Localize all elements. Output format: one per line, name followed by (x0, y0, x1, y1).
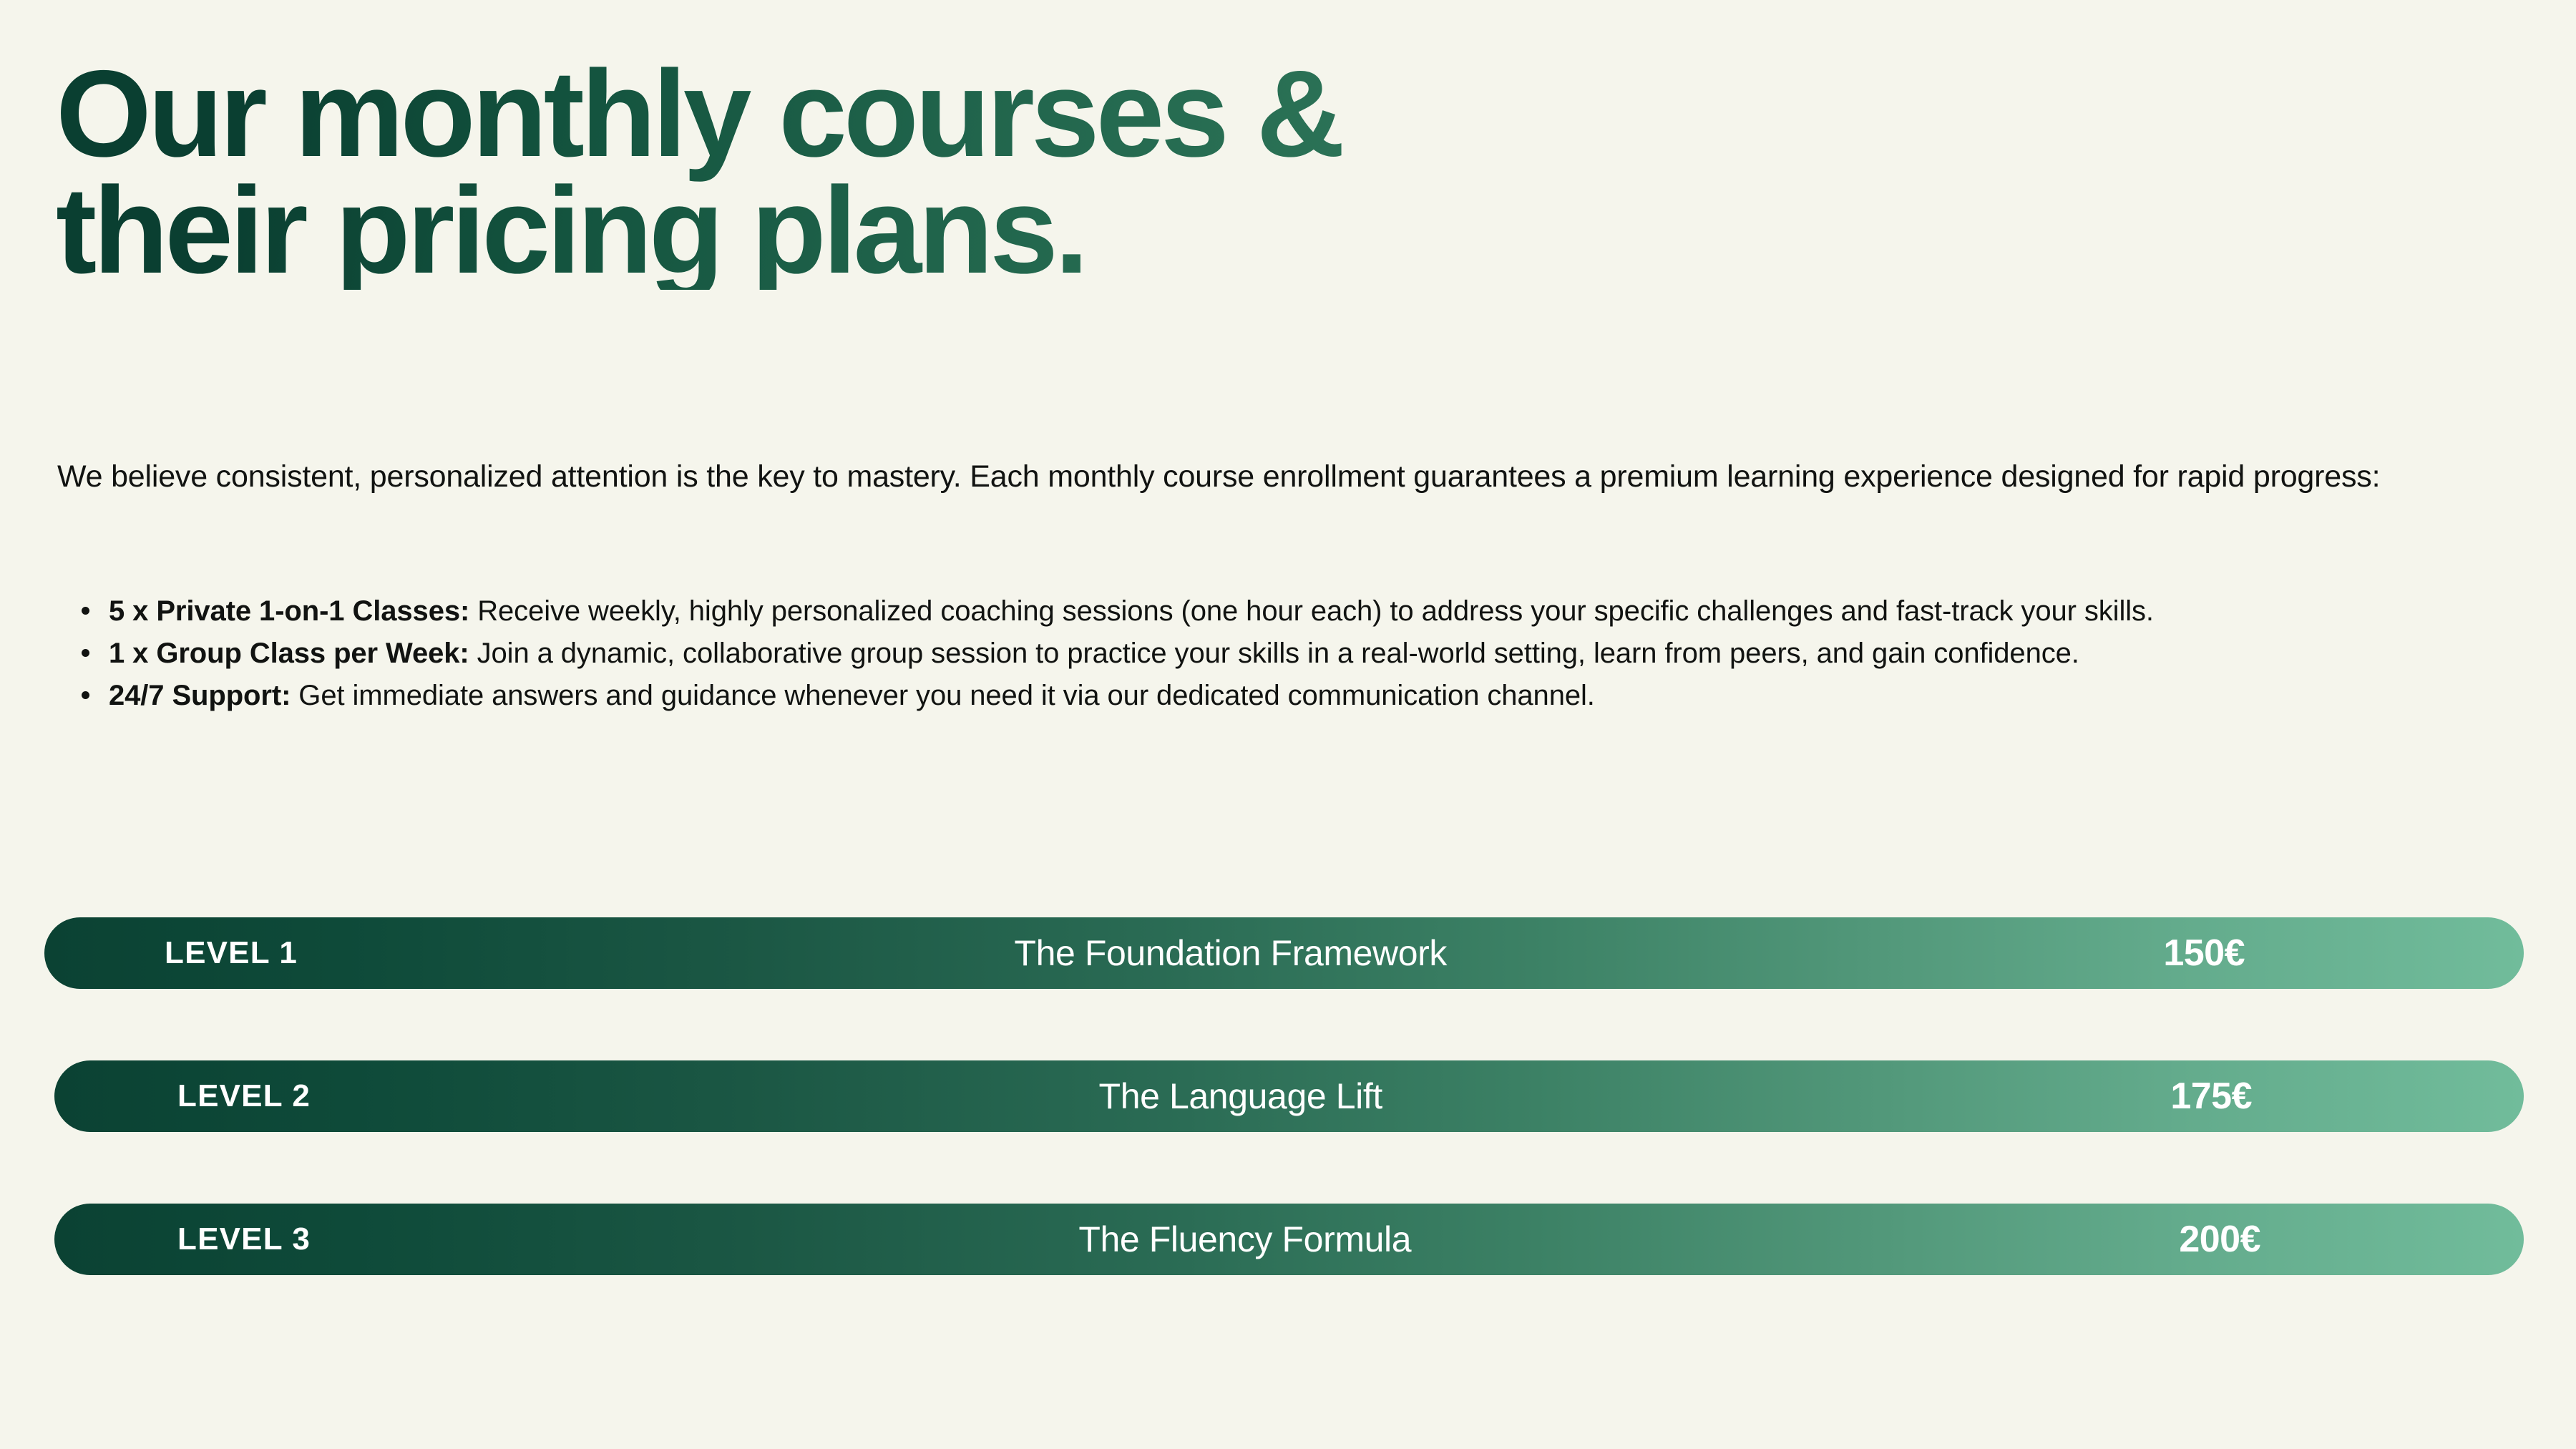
feature-text: Join a dynamic, collaborative group sess… (469, 638, 2079, 669)
list-item: 1 x Group Class per Week: Join a dynamic… (109, 635, 2542, 673)
pricing-page: Our monthly courses & their pricing plan… (0, 0, 2576, 1449)
list-item: 24/7 Support: Get immediate answers and … (109, 677, 2542, 715)
plan-title: The Fluency Formula (311, 1219, 2179, 1260)
plan-title: The Language Lift (311, 1075, 2170, 1117)
plan-level-badge: LEVEL 1 (165, 935, 298, 971)
bullet-icon (82, 607, 89, 615)
feature-label: 5 x Private 1-on-1 Classes: (109, 595, 469, 627)
pricing-plan-list: LEVEL 1 The Foundation Framework 150€ LE… (0, 917, 2576, 1275)
bullet-icon (82, 691, 89, 699)
plan-price: 200€ (2179, 1218, 2260, 1261)
page-title: Our monthly courses & their pricing plan… (56, 56, 2489, 290)
bullet-icon (82, 649, 89, 657)
plan-title: The Foundation Framework (298, 932, 2163, 974)
list-item: 5 x Private 1-on-1 Classes: Receive week… (109, 592, 2542, 630)
feature-label: 24/7 Support: (109, 680, 291, 711)
plan-price: 175€ (2170, 1075, 2252, 1118)
plan-level-badge: LEVEL 3 (177, 1221, 311, 1257)
pricing-plan-row-level-1[interactable]: LEVEL 1 The Foundation Framework 150€ (44, 917, 2524, 989)
intro-paragraph: We believe consistent, personalized atte… (57, 455, 2504, 499)
feature-text: Receive weekly, highly personalized coac… (469, 595, 2154, 627)
feature-label: 1 x Group Class per Week: (109, 638, 469, 669)
plan-level-badge: LEVEL 2 (177, 1078, 311, 1114)
feature-text: Get immediate answers and guidance whene… (291, 680, 1595, 711)
pricing-plan-row-level-2[interactable]: LEVEL 2 The Language Lift 175€ (54, 1060, 2524, 1132)
feature-list: 5 x Private 1-on-1 Classes: Receive week… (72, 592, 2542, 720)
plan-price: 150€ (2163, 932, 2245, 975)
pricing-plan-row-level-3[interactable]: LEVEL 3 The Fluency Formula 200€ (54, 1204, 2524, 1275)
